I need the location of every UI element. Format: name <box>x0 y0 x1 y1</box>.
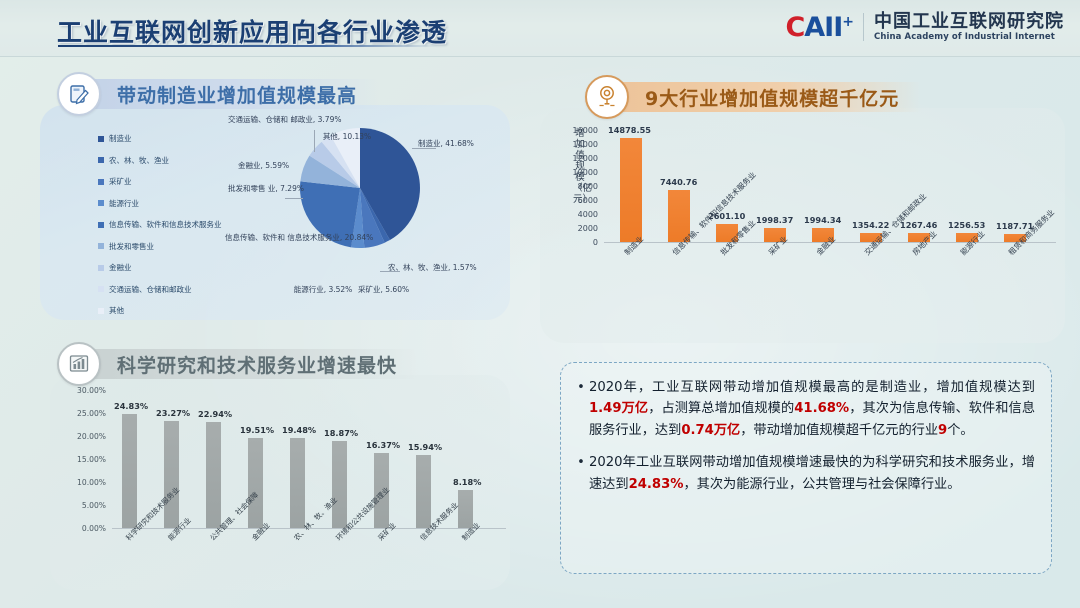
text-run: ，占测算总增加值规模的 <box>648 401 794 416</box>
y-tick: 20.00% <box>64 432 106 441</box>
title-underline <box>58 45 438 47</box>
legend-item: 批发和零售业 <box>98 241 222 252</box>
bullet-marker: • <box>573 377 589 441</box>
legend-swatch <box>98 243 104 249</box>
logo-plus-icon: + <box>842 14 853 30</box>
bar-manufacturing <box>458 490 473 528</box>
bar-scientific-research <box>122 414 137 528</box>
legend-item: 采矿业 <box>98 176 222 187</box>
legend-item: 农、林、牧、渔业 <box>98 155 222 166</box>
legend-label: 交通运输、仓储和邮政业 <box>109 284 192 295</box>
bullet-marker: • <box>573 452 589 495</box>
legend-item: 交通运输、仓储和邮政业 <box>98 284 222 295</box>
bar-chart-icon <box>57 342 101 386</box>
bullet-text: 2020年，工业互联网带动增加值规模最高的是制造业，增加值规模达到1.49万亿，… <box>589 377 1035 441</box>
bar-value: 1994.34 <box>804 215 841 225</box>
legend-label: 采矿业 <box>109 176 132 187</box>
x-tick-label: 租赁和商务服务业 <box>1006 207 1057 258</box>
bar-public-admin <box>206 422 221 528</box>
bar-value: 19.51% <box>240 425 274 435</box>
pie-label-mining: 采矿业, 5.60% <box>358 285 406 294</box>
section-title-growth: 科学研究和技术服务业增速最快 <box>87 349 419 379</box>
leader-line <box>380 271 400 272</box>
section-title-bar: 9大行业增加值规模超千亿元 <box>615 82 921 112</box>
y-tick: 12000 <box>558 154 598 163</box>
legend-label: 制造业 <box>109 133 132 144</box>
bar-value: 15.94% <box>408 442 442 452</box>
legend-swatch <box>98 222 104 228</box>
logo-mark: CAII+ <box>785 14 853 41</box>
leader-line <box>285 198 303 199</box>
summary-callout-box: • 2020年，工业互联网带动增加值规模最高的是制造业，增加值规模达到1.49万… <box>560 362 1052 574</box>
legend-swatch <box>98 157 104 163</box>
highlight-value: 9 <box>938 423 947 438</box>
legend-label: 其他 <box>109 305 124 316</box>
legend-item: 能源行业 <box>98 198 222 209</box>
bar-value: 23.27% <box>156 408 190 418</box>
text-run: ，其次为能源行业，公共管理与社会保障行业。 <box>684 477 961 492</box>
bar-value: 19.48% <box>282 425 316 435</box>
target-lamp-icon <box>585 75 629 119</box>
y-tick: 10.00% <box>64 478 106 487</box>
note-pen-icon <box>57 72 101 116</box>
logo-divider <box>863 13 864 41</box>
legend-label: 信息传输、软件和信息技术服务业 <box>109 219 222 230</box>
pie-label-wholesale: 批发和零售 业, 7.29% <box>228 184 282 193</box>
legend-swatch <box>98 136 104 142</box>
bar-value: 1998.37 <box>756 215 793 225</box>
page-header: 工业互联网创新应用向各行业渗透 CAII+ 中国工业互联网研究院 China A… <box>0 0 1080 57</box>
legend-swatch <box>98 179 104 185</box>
legend-swatch <box>98 286 104 292</box>
legend-label: 批发和零售业 <box>109 241 154 252</box>
pie-label-transport: 交通运输、仓储和 邮政业, 3.79% <box>228 115 314 124</box>
bullet-text: 2020年工业互联网带动增加值规模增速最快的为科学研究和技术服务业，增速达到24… <box>589 452 1035 495</box>
logo-name-cn: 中国工业互联网研究院 <box>874 13 1064 32</box>
bar-value: 24.83% <box>114 401 148 411</box>
section-title-pie: 带动制造业增加值规模最高 <box>87 79 379 109</box>
bullet-item: • 2020年，工业互联网带动增加值规模最高的是制造业，增加值规模达到1.49万… <box>573 377 1035 441</box>
bar-value: 16.37% <box>366 440 400 450</box>
bar-environment <box>332 441 347 528</box>
logo-name-en: China Academy of Industrial Internet <box>874 32 1064 42</box>
highlight-value: 41.68% <box>794 401 849 416</box>
bar-manufacturing <box>620 138 642 242</box>
bullet-item: • 2020年工业互联网带动增加值规模增速最快的为科学研究和技术服务业，增速达到… <box>573 452 1035 495</box>
pie-chart: 制造业 农、林、牧、渔业 采矿业 能源行业 信息传输、软件和信息技术服务业 批发… <box>40 108 520 323</box>
y-tick: 2000 <box>558 224 598 233</box>
text-run: 2020年，工业互联网带动增加值规模最高的是制造业，增加值规模达到 <box>589 380 1035 395</box>
legend-item: 金融业 <box>98 262 222 273</box>
legend-item: 制造业 <box>98 133 222 144</box>
pie-label-it-services: 信息传输、软件和 信息技术服务业, 20.84% <box>225 233 313 242</box>
growth-bar-chart: 30.00% 25.00% 20.00% 15.00% 10.00% 5.00%… <box>50 378 520 603</box>
leader-line <box>314 130 315 152</box>
y-tick: 6000 <box>558 196 598 205</box>
legend-label: 能源行业 <box>109 198 139 209</box>
pie-label-finance: 金融业, 5.59% <box>238 161 289 170</box>
text-run: ，带动增加值规模超千亿元的行业 <box>740 423 938 438</box>
y-tick: 8000 <box>558 182 598 191</box>
page-title: 工业互联网创新应用向各行业渗透 <box>57 13 447 49</box>
legend-swatch <box>98 265 104 271</box>
y-tick: 5.00% <box>64 501 106 510</box>
bar-energy <box>164 421 179 528</box>
y-tick: 16000 <box>558 126 598 135</box>
pie-graphic <box>298 126 422 250</box>
legend-swatch <box>98 308 104 314</box>
pie-label-other: 其他, 10.13% <box>322 132 372 141</box>
legend-label: 金融业 <box>109 262 132 273</box>
logo-letters-aii: AII <box>804 12 842 43</box>
bar-chart: 16000 14000 12000 10000 8000 6000 4000 2… <box>540 110 1070 340</box>
leader-line <box>412 148 436 149</box>
y-tick: 4000 <box>558 210 598 219</box>
text-run: 个。 <box>947 423 973 438</box>
y-tick: 30.00% <box>64 386 106 395</box>
y-tick: 10000 <box>558 168 598 177</box>
bar-value: 22.94% <box>198 409 232 419</box>
legend-swatch <box>98 200 104 206</box>
bar-value: 8.18% <box>453 477 481 487</box>
legend-label: 农、林、牧、渔业 <box>109 155 169 166</box>
highlight-value: 0.74万亿 <box>681 423 740 438</box>
bar-finance <box>248 438 263 528</box>
legend-item: 其他 <box>98 305 222 316</box>
bar-value: 7440.76 <box>660 177 697 187</box>
bar-value: 18.87% <box>324 428 358 438</box>
y-tick: 0.00% <box>64 524 106 533</box>
bar-agriculture <box>290 438 305 528</box>
y-tick: 0 <box>558 238 598 247</box>
highlight-value: 24.83% <box>629 477 684 492</box>
legend-item: 信息传输、软件和信息技术服务业 <box>98 219 222 230</box>
highlight-value: 1.49万亿 <box>589 401 648 416</box>
pie-legend: 制造业 农、林、牧、渔业 采矿业 能源行业 信息传输、软件和信息技术服务业 批发… <box>98 133 222 327</box>
y-tick: 15.00% <box>64 455 106 464</box>
bar-it-services <box>416 455 431 528</box>
bar-value: 14878.55 <box>608 125 651 135</box>
logo-letter-c: C <box>785 12 804 43</box>
pie-label-manufacturing: 制造业, 41.68% <box>418 139 474 148</box>
y-tick: 14000 <box>558 140 598 149</box>
brand-logo: CAII+ 中国工业互联网研究院 China Academy of Indust… <box>785 13 1064 42</box>
y-tick: 25.00% <box>64 409 106 418</box>
pie-label-energy: 能源行业, 3.52% <box>293 285 353 294</box>
